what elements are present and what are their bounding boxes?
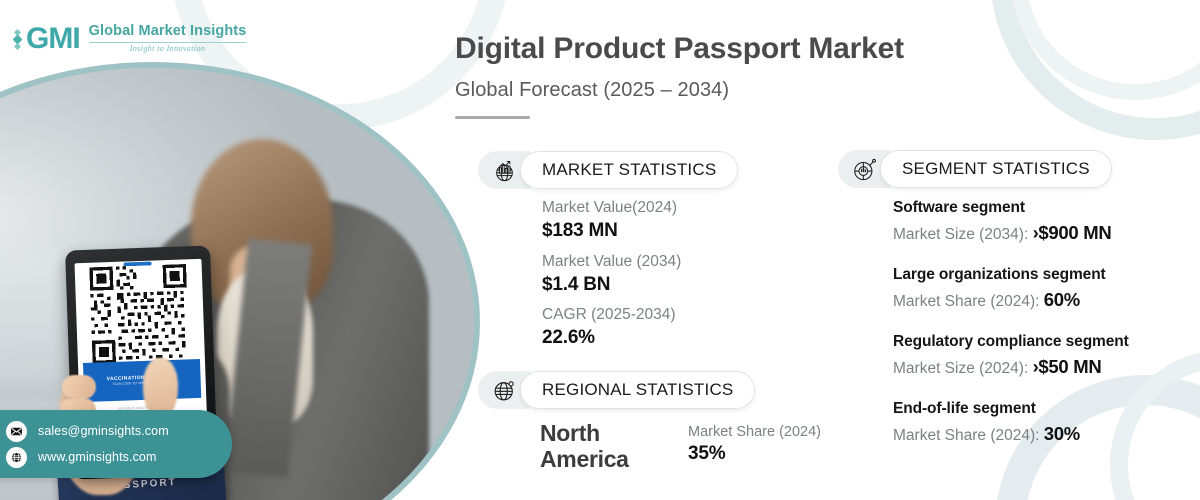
segment-metric-value: ›$50 MN [1033, 356, 1102, 377]
segment-title: End-of-life segment [893, 399, 1193, 419]
market-row-label: CAGR (2025-2034) [542, 305, 681, 326]
contact-website-row[interactable]: www.gminsights.com [6, 447, 232, 468]
section-label-regional-statistics: REGIONAL STATISTICS [520, 371, 755, 409]
region-share-value: 35% [688, 443, 821, 465]
logo-divider [89, 42, 247, 43]
logo-tagline: Insight to Innovation [89, 45, 247, 53]
globe-icon [6, 447, 27, 468]
page-title: Digital Product Passport Market [455, 32, 1175, 67]
header: Digital Product Passport Market Global F… [455, 32, 1175, 119]
segment-title: Large organizations segment [893, 265, 1193, 285]
market-row-value: $183 MN [542, 219, 681, 244]
region-name: North America [540, 420, 658, 473]
segment-metric-label: Market Size (2024): [893, 360, 1033, 377]
section-label-segment-statistics: SEGMENT STATISTICS [880, 150, 1112, 188]
segment-item: End-of-life segment Market Share (2024):… [893, 399, 1193, 447]
market-row-value: $1.4 BN [542, 273, 681, 298]
segment-item: Large organizations segment Market Share… [893, 265, 1193, 313]
logo-diamond-icon [14, 30, 21, 49]
segment-statistics-list: Software segment Market Size (2034): ›$9… [893, 198, 1193, 447]
segment-title: Software segment [893, 198, 1193, 218]
contact-website-text: www.gminsights.com [38, 450, 157, 464]
envelope-icon [6, 421, 27, 442]
regional-statistics-content: North America Market Share (2024) 35% [540, 420, 821, 473]
segment-metric-value: 30% [1044, 423, 1080, 444]
infographic-canvas: PASSPORT [0, 0, 1200, 500]
page-subtitle: Global Forecast (2025 – 2034) [455, 79, 1175, 102]
logo-mark-text: GMI [26, 24, 80, 54]
title-divider [455, 116, 530, 119]
contact-email-text: sales@gminsights.com [38, 424, 169, 438]
section-header-regional-statistics[interactable]: REGIONAL STATISTICS [478, 371, 755, 409]
market-row-label: Market Value (2034) [542, 252, 681, 273]
region-share-label: Market Share (2024) [688, 424, 821, 440]
segment-metric-value: 60% [1044, 289, 1080, 310]
section-header-market-statistics[interactable]: MARKET STATISTICS [478, 151, 738, 189]
vaccination-passport-banner: VACCINATION PASSPORT SCAN CODE TO VERIFY… [83, 360, 201, 402]
market-row-label: Market Value(2024) [542, 198, 681, 219]
segment-metric-label: Market Share (2024): [893, 427, 1044, 444]
segment-metric-label: Market Share (2024): [893, 293, 1044, 310]
segment-item: Software segment Market Size (2034): ›$9… [893, 198, 1193, 246]
section-label-market-statistics: MARKET STATISTICS [520, 151, 738, 189]
market-row-value: 22.6% [542, 326, 681, 351]
segment-title: Regulatory compliance segment [893, 332, 1193, 352]
contact-email-row[interactable]: sales@gminsights.com [6, 421, 232, 442]
section-header-segment-statistics[interactable]: SEGMENT STATISTICS [838, 150, 1112, 188]
market-statistics-list: Market Value(2024) $183 MN Market Value … [542, 198, 681, 351]
contact-bar: sales@gminsights.com www.gminsights.com [0, 410, 232, 478]
segment-metric-label: Market Size (2034): [893, 226, 1033, 243]
brand-logo[interactable]: GMI Global Market Insights Insight to In… [14, 24, 246, 54]
logo-company-name: Global Market Insights [89, 24, 247, 39]
segment-item: Regulatory compliance segment Market Siz… [893, 332, 1193, 380]
segment-metric-value: ›$900 MN [1033, 222, 1112, 243]
qr-code-icon [90, 265, 190, 365]
finger [62, 375, 95, 398]
